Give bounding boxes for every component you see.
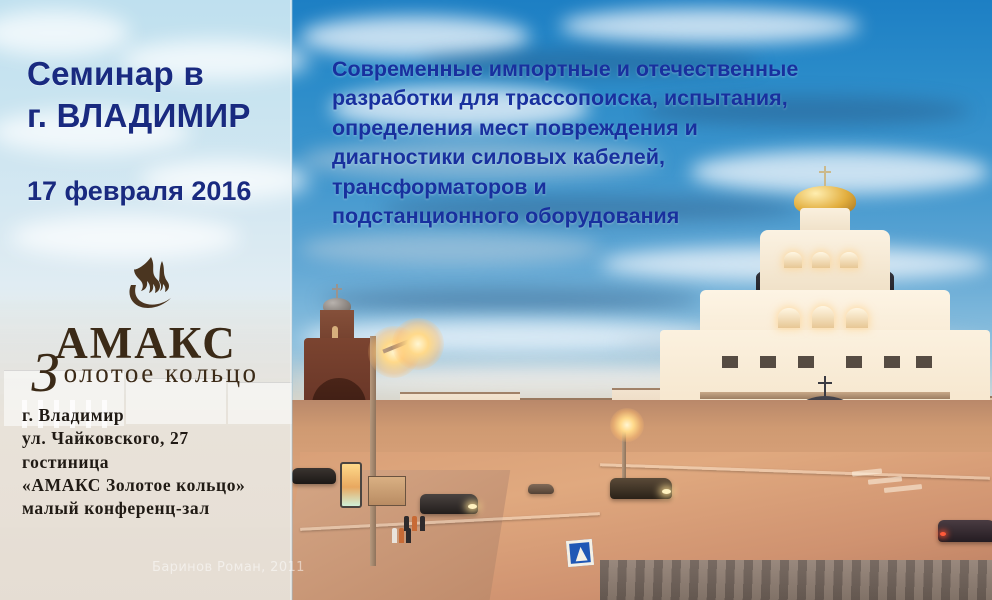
lamp-glow [610, 408, 644, 442]
arch-niche [778, 308, 800, 328]
cloud [10, 215, 240, 259]
stone-wall [600, 560, 992, 600]
logo-subbrand: Золотое кольцо [0, 358, 292, 389]
pedestrian-crossing-sign [566, 539, 594, 567]
car [610, 478, 672, 499]
seminar-headline: Современные импортные и отечественные ра… [332, 55, 932, 232]
title-line-2: г. ВЛАДИМИР [27, 95, 287, 137]
event-date: 17 февраля 2016 [27, 176, 297, 207]
church-window [332, 326, 338, 338]
headline-line-2: разработки для трассопоиска, испытания, [332, 84, 932, 113]
crenellation [722, 356, 738, 368]
car [938, 520, 992, 542]
car [420, 494, 478, 514]
address-line-2: ул. Чайковского, 27 [22, 427, 290, 450]
venue-address: г. Владимир ул. Чайковского, 27 гостиниц… [22, 404, 290, 520]
crenellation [884, 356, 900, 368]
headline-line-4: диагностики силовых кабелей, [332, 143, 932, 172]
flame-emblem-icon [123, 255, 175, 317]
arch-niche [846, 308, 868, 328]
page-title: Семинар в г. ВЛАДИМИР [27, 53, 287, 136]
crenellation [846, 356, 862, 368]
headline-line-3: определения мест повреждения и [332, 114, 932, 143]
arch-niche [812, 252, 830, 268]
title-line-1: Семинар в [27, 53, 287, 95]
pedestrian [406, 528, 411, 543]
logo-script-cap: З [31, 342, 61, 404]
cloud [300, 232, 600, 266]
panel-divider [290, 0, 293, 600]
address-line-4: «АМАКС Золотое кольцо» [22, 474, 290, 497]
crenellation [916, 356, 932, 368]
logo-subbrand-rest: олотое кольцо [64, 358, 259, 388]
headline-line-1: Современные импортные и отечественные [332, 55, 932, 84]
crenellation [760, 356, 776, 368]
arch-niche [784, 252, 802, 268]
headline-line-6: подстанционного оборудования [332, 202, 932, 231]
pedestrian [420, 516, 425, 531]
car [292, 468, 336, 484]
address-line-3: гостиница [22, 451, 290, 474]
seminar-poster: Семинар в г. ВЛАДИМИР 17 февраля 2016 АМ… [0, 0, 992, 600]
arch-niche [812, 306, 834, 328]
cloud [560, 8, 860, 44]
crenellation [798, 356, 814, 368]
pedestrian [412, 516, 417, 531]
address-line-1: г. Владимир [22, 404, 290, 427]
arch-niche [840, 252, 858, 268]
pedestrian [392, 528, 397, 543]
car [528, 484, 554, 494]
street-signboard [368, 476, 406, 506]
pedestrian [399, 528, 404, 543]
chapel-cross-icon [824, 376, 826, 398]
headline-line-5: трансформаторов и [332, 173, 932, 202]
photographer-watermark: Баринов Роман, 2011 [152, 560, 305, 575]
advertising-billboard [340, 462, 362, 508]
lamp-glow [392, 318, 444, 370]
address-line-5: малый конференц-зал [22, 497, 290, 520]
